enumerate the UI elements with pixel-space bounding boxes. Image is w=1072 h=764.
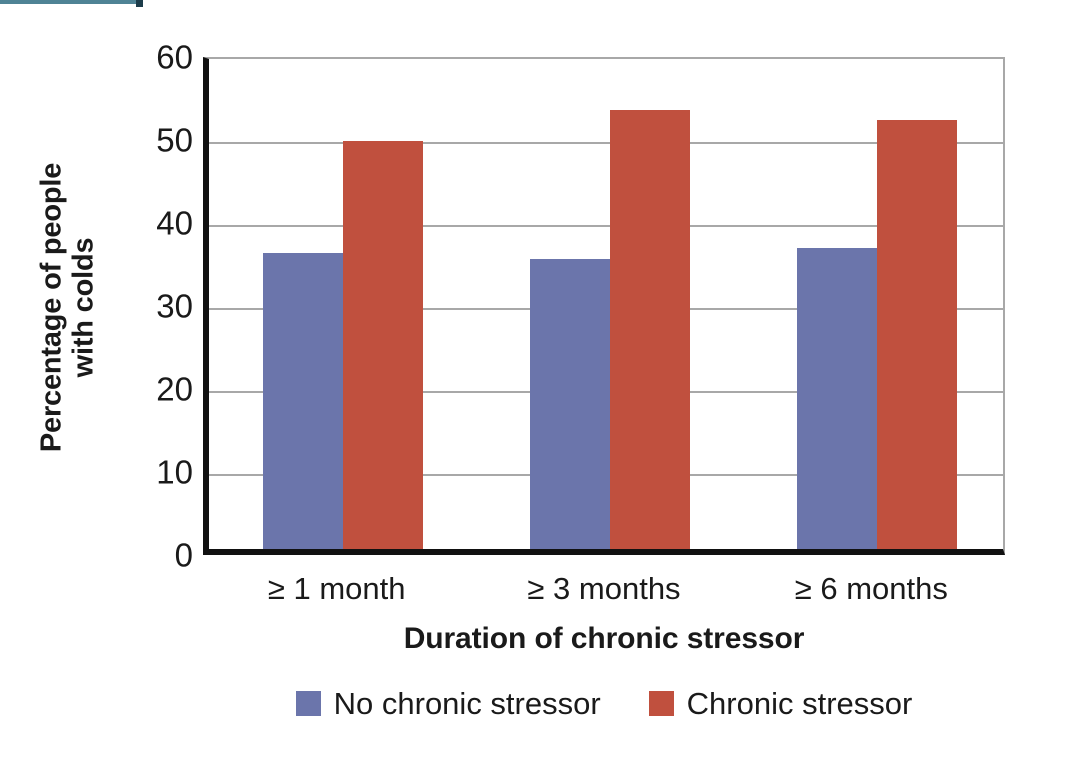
legend-swatch-icon (649, 691, 674, 716)
y-tick-label: 40 (118, 207, 193, 240)
bar-chart-figure: Percentage of people with colds 01020304… (0, 0, 1072, 764)
legend-item[interactable]: Chronic stressor (649, 688, 913, 719)
legend-item[interactable]: No chronic stressor (296, 688, 601, 719)
legend-swatch-icon (296, 691, 321, 716)
bar (530, 259, 610, 549)
bar (343, 141, 423, 549)
x-tick-label: ≥ 1 month (203, 566, 470, 612)
y-axis-title: Percentage of people with colds (36, 112, 101, 502)
y-tick-label: 30 (118, 290, 193, 323)
legend-label: No chronic stressor (334, 688, 601, 719)
x-axis-tick-labels: ≥ 1 month≥ 3 months≥ 6 months (203, 566, 1005, 612)
bar (877, 120, 957, 549)
y-tick-label: 20 (118, 373, 193, 406)
bar (263, 253, 343, 549)
bar (610, 110, 690, 549)
y-tick-label: 50 (118, 124, 193, 157)
bars-layer (209, 59, 1003, 549)
x-tick-label: ≥ 3 months (470, 566, 737, 612)
chart-legend: No chronic stressorChronic stressor (203, 688, 1005, 719)
legend-label: Chronic stressor (687, 688, 913, 719)
x-tick-label: ≥ 6 months (738, 566, 1005, 612)
bar (797, 248, 877, 549)
x-axis-title: Duration of chronic stressor (203, 622, 1005, 656)
y-tick-label: 0 (118, 539, 193, 572)
y-axis-tick-labels: 0102030405060 (118, 57, 193, 555)
y-tick-label: 10 (118, 456, 193, 489)
plot-area (203, 57, 1005, 555)
y-tick-label: 60 (118, 41, 193, 74)
